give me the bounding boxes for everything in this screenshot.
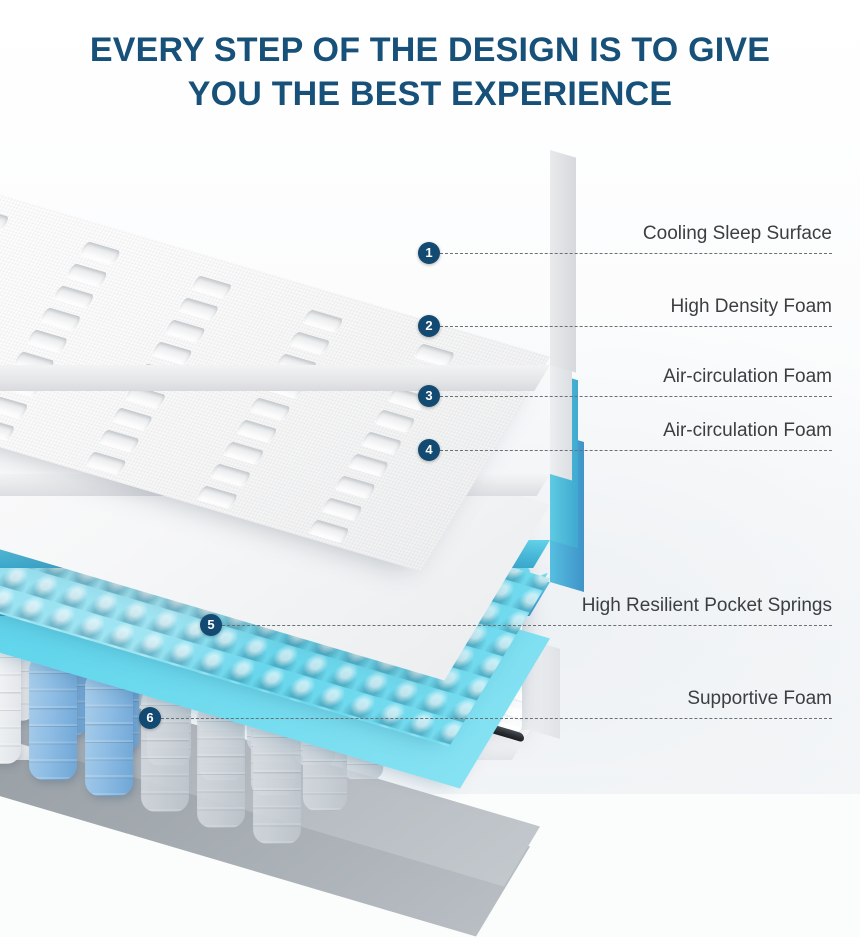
callout-label-6: Supportive Foam — [687, 688, 832, 710]
quilt-tuft — [321, 497, 363, 520]
pocket-coil — [29, 655, 77, 780]
quilt-tuft — [334, 475, 376, 498]
layer-cooling-sleep-surface — [0, 150, 550, 400]
quilt-tuft — [223, 441, 265, 464]
quilt-tuft — [40, 307, 82, 330]
quilt-tuft — [0, 207, 10, 230]
quilt-tuft — [348, 453, 390, 476]
quilt-tuft — [98, 429, 140, 452]
quilt-tuft — [236, 419, 278, 442]
cooling-surface-front-face — [0, 365, 550, 391]
quilt-tuft — [178, 297, 220, 320]
callout-dash-line — [222, 625, 832, 626]
callout-badge-6[interactable]: 6 — [139, 707, 161, 729]
mattress-diagram: 1Cooling Sleep Surface2High Density Foam… — [0, 0, 860, 794]
callout-label-2: High Density Foam — [670, 296, 832, 318]
quilt-tuft — [66, 263, 108, 286]
quilt-tuft — [249, 397, 291, 420]
quilt-tuft — [0, 395, 29, 418]
callout-badge-2[interactable]: 2 — [418, 315, 440, 337]
quilt-tuft — [53, 285, 95, 308]
callout-label-3: Air-circulation Foam — [663, 366, 832, 388]
quilt-tuft — [197, 485, 239, 508]
callout-dash-line — [440, 396, 832, 397]
callout-dash-line — [440, 450, 832, 451]
quilt-tuft — [289, 331, 331, 354]
quilt-tuft — [414, 343, 456, 366]
callout-badge-5[interactable]: 5 — [200, 614, 222, 636]
callout-badge-4[interactable]: 4 — [418, 439, 440, 461]
callout-label-5: High Resilient Pocket Springs — [582, 595, 832, 617]
callout-dash-line — [440, 253, 832, 254]
quilt-tuft — [79, 241, 121, 264]
quilt-tuft — [85, 451, 127, 474]
callout-badge-1[interactable]: 1 — [418, 242, 440, 264]
quilt-tuft — [112, 407, 154, 430]
callout-label-1: Cooling Sleep Surface — [643, 223, 832, 245]
quilt-tuft — [164, 319, 206, 342]
quilt-tuft — [191, 275, 233, 298]
quilt-tuft — [0, 417, 16, 440]
quilt-tuft — [361, 431, 403, 454]
quilt-tuft — [210, 463, 252, 486]
quilt-tuft — [151, 341, 193, 364]
quilt-tuft — [27, 329, 69, 352]
quilt-tuft — [374, 409, 416, 432]
cooling-surface-side-face — [550, 150, 576, 373]
callout-label-4: Air-circulation Foam — [663, 420, 832, 442]
callout-badge-3[interactable]: 3 — [418, 385, 440, 407]
quilt-tuft — [308, 519, 350, 542]
callout-dash-line — [161, 718, 832, 719]
quilt-tuft — [302, 309, 344, 332]
callout-dash-line — [440, 326, 832, 327]
